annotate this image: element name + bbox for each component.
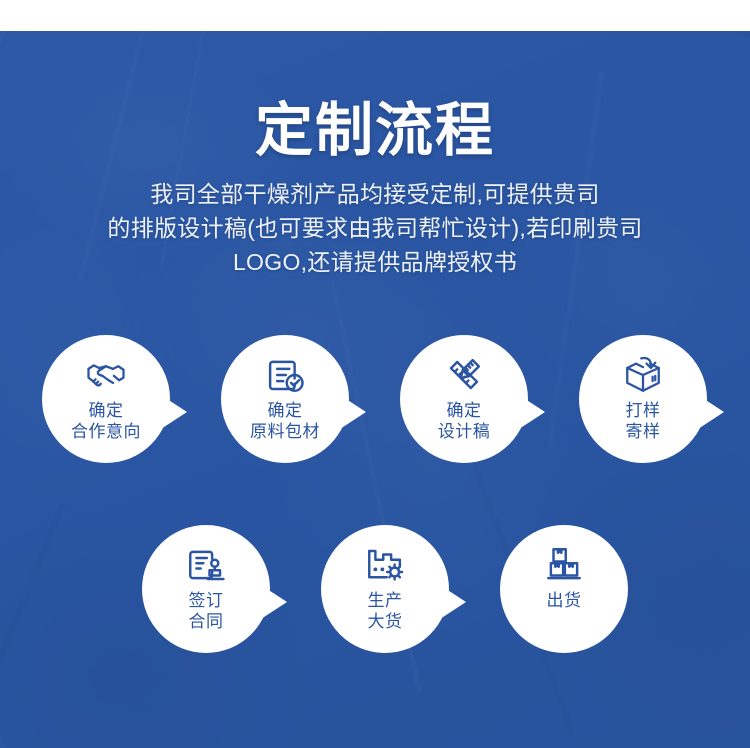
step-label-line: 打样 xyxy=(626,401,661,422)
step-label-line: 设计稿 xyxy=(438,422,491,443)
step-label: 确定 设计稿 xyxy=(438,401,491,442)
step-bubble-sampling: 打样 寄样 xyxy=(579,335,707,463)
step-label-line: 寄样 xyxy=(626,422,661,443)
step-label-line: 确定 xyxy=(438,401,491,422)
description-line: LOGO,还请提供品牌授权书 xyxy=(0,245,750,279)
step-label-line: 合作意向 xyxy=(71,422,141,443)
step-label: 打样 寄样 xyxy=(626,401,661,442)
step-bubble-sign-contract: 签订 合同 xyxy=(142,525,270,653)
step-label-line: 大货 xyxy=(368,612,403,633)
page-description: 我司全部干燥剂产品均接受定制,可提供贵司 的排版设计稿(也可要求由我司帮忙设计)… xyxy=(0,160,750,279)
step-label: 生产 大货 xyxy=(368,591,403,632)
top-white-strip xyxy=(0,0,750,31)
bubble-body: 签订 合同 xyxy=(142,525,270,653)
bubble-body: 打样 寄样 xyxy=(579,335,707,463)
handshake-icon xyxy=(85,354,127,396)
headline-block: 定制流程 我司全部干燥剂产品均接受定制,可提供贵司 的排版设计稿(也可要求由我司… xyxy=(0,31,750,279)
description-line: 我司全部干燥剂产品均接受定制,可提供贵司 xyxy=(0,177,750,211)
step-label-line: 合同 xyxy=(189,612,224,633)
hero-banner: 定制流程 我司全部干燥剂产品均接受定制,可提供贵司 的排版设计稿(也可要求由我司… xyxy=(0,31,750,748)
step-label-line: 确定 xyxy=(250,401,320,422)
step-label-line: 确定 xyxy=(71,401,141,422)
bubble-body: 确定 合作意向 xyxy=(42,335,170,463)
stacked-boxes-icon xyxy=(543,544,585,586)
document-check-icon xyxy=(264,354,306,396)
contract-stamp-icon xyxy=(185,544,227,586)
step-label: 出货 xyxy=(547,591,582,612)
factory-gear-icon xyxy=(364,544,406,586)
description-line: 的排版设计稿(也可要求由我司帮忙设计),若印刷贵司 xyxy=(0,211,750,245)
bubble-body: 生产 大货 xyxy=(321,525,449,653)
step-label-line: 原料包材 xyxy=(250,422,320,443)
step-label: 签订 合同 xyxy=(189,591,224,632)
custom-process-banner: 定制流程 我司全部干燥剂产品均接受定制,可提供贵司 的排版设计稿(也可要求由我司… xyxy=(0,0,750,748)
step-label: 确定 原料包材 xyxy=(250,401,320,442)
bubble-body: 出货 xyxy=(500,525,628,653)
step-bubble-confirm-cooperation: 确定 合作意向 xyxy=(42,335,170,463)
pencil-ruler-icon xyxy=(443,354,485,396)
step-label-line: 签订 xyxy=(189,591,224,612)
process-steps-row-2: 签订 合同 xyxy=(142,525,628,653)
step-label: 确定 合作意向 xyxy=(71,401,141,442)
bubble-body: 确定 原料包材 xyxy=(221,335,349,463)
step-label-line: 出货 xyxy=(547,591,582,612)
open-box-arrow-icon xyxy=(622,354,664,396)
process-steps-row-1: 确定 合作意向 xyxy=(42,335,707,463)
step-label-line: 生产 xyxy=(368,591,403,612)
bubble-body: 确定 设计稿 xyxy=(400,335,528,463)
step-bubble-confirm-design: 确定 设计稿 xyxy=(400,335,528,463)
step-bubble-confirm-materials: 确定 原料包材 xyxy=(221,335,349,463)
step-bubble-mass-production: 生产 大货 xyxy=(321,525,449,653)
page-title: 定制流程 xyxy=(0,31,750,160)
step-bubble-shipment: 出货 xyxy=(500,525,628,653)
